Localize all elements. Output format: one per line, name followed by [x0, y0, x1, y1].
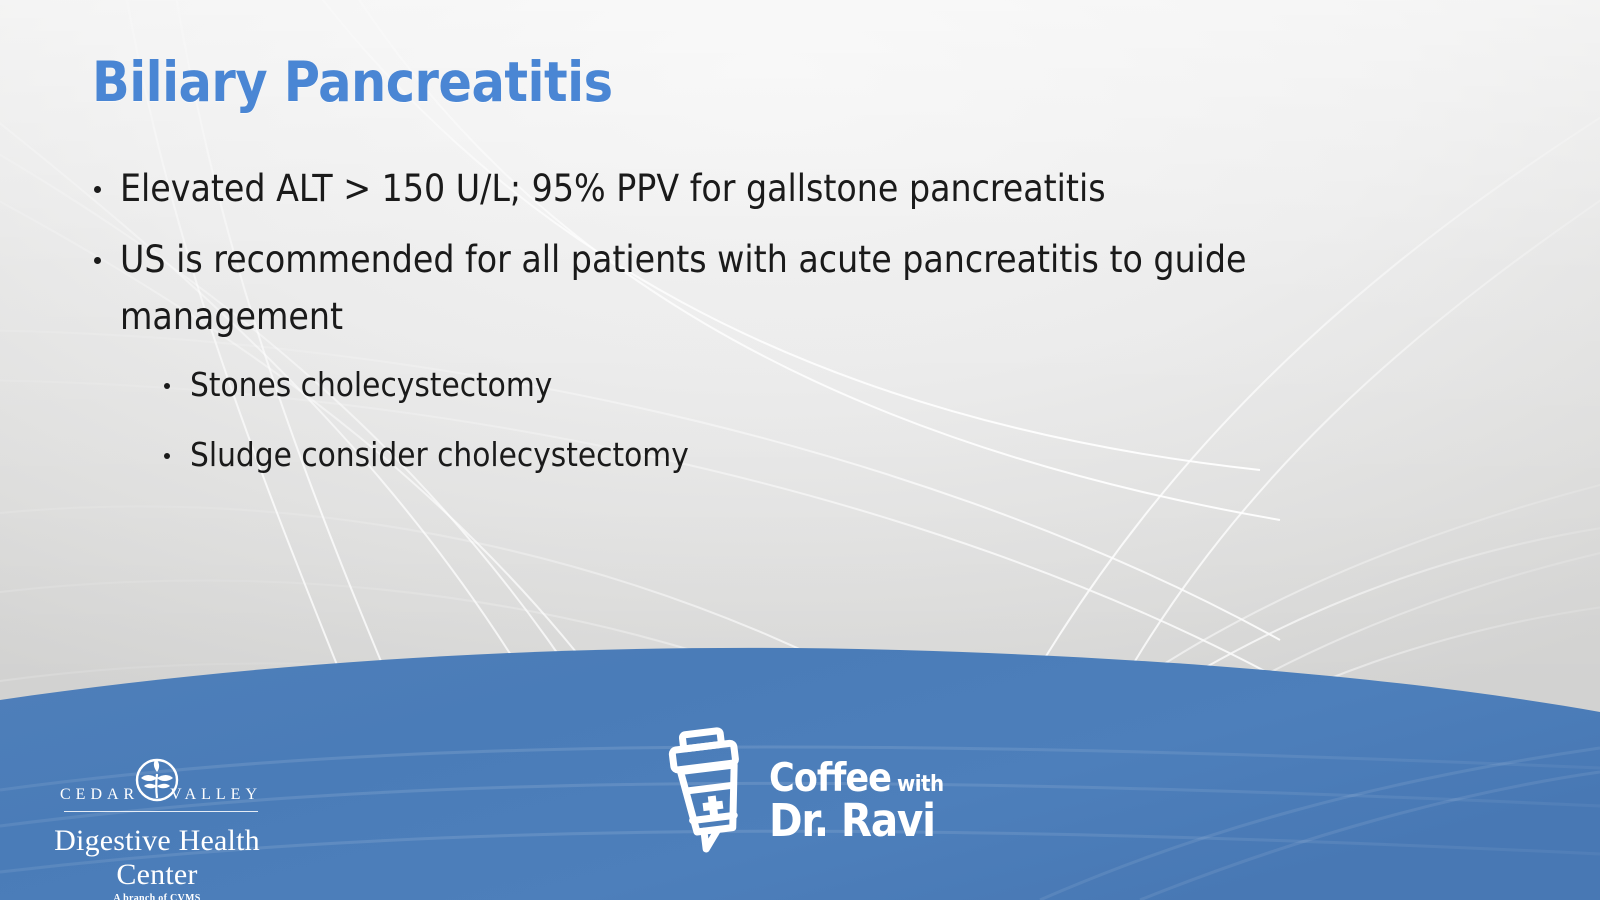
ravi-logo-line-2: Dr. Ravi: [769, 794, 935, 847]
sub-bullet-item: Stones cholecystectomy: [92, 359, 1512, 411]
cedar-valley-rule: [64, 811, 258, 812]
coffee-with-dr-ravi-logo: Coffee with Dr. Ravi: [663, 722, 923, 862]
coffee-with-dr-ravi-wordmark: Coffee with Dr. Ravi: [769, 741, 944, 843]
cedar-valley-logo: CEDAR VALLEY Digestive Health Center A b…: [22, 752, 292, 900]
cedar-valley-word-right: VALLEY: [170, 786, 262, 804]
cedar-valley-word-left: CEDAR: [60, 786, 139, 804]
bullet-list: Elevated ALT > 150 U/L; 95% PPV for gall…: [92, 160, 1512, 499]
ravi-logo-line-1: Coffee with: [769, 759, 944, 798]
page-title: Biliary Pancreatitis: [92, 50, 613, 114]
bullet-text: US is recommended for all patients with …: [120, 231, 1410, 345]
cedar-valley-name: Digestive Health Center: [22, 824, 292, 892]
cedar-valley-emblem-row: CEDAR VALLEY: [22, 752, 292, 808]
ravi-logo-with-word: with: [897, 774, 944, 796]
bullet-item: US is recommended for all patients with …: [92, 231, 1512, 345]
bullet-text: Stones cholecystectomy: [190, 359, 1512, 411]
ravi-logo-coffee-word: Coffee: [769, 759, 891, 798]
bullet-text: Elevated ALT > 150 U/L; 95% PPV for gall…: [120, 160, 1410, 217]
cedar-valley-subtitle: A branch of CVMS: [22, 893, 292, 900]
slide-canvas: Biliary Pancreatitis Elevated ALT > 150 …: [0, 0, 1600, 900]
sub-bullet-item: Sludge consider cholecystectomy: [92, 429, 1512, 481]
coffee-cup-speech-bubble-icon: [663, 726, 759, 859]
bullet-text: Sludge consider cholecystectomy: [190, 429, 1512, 481]
bullet-item: Elevated ALT > 150 U/L; 95% PPV for gall…: [92, 160, 1512, 217]
